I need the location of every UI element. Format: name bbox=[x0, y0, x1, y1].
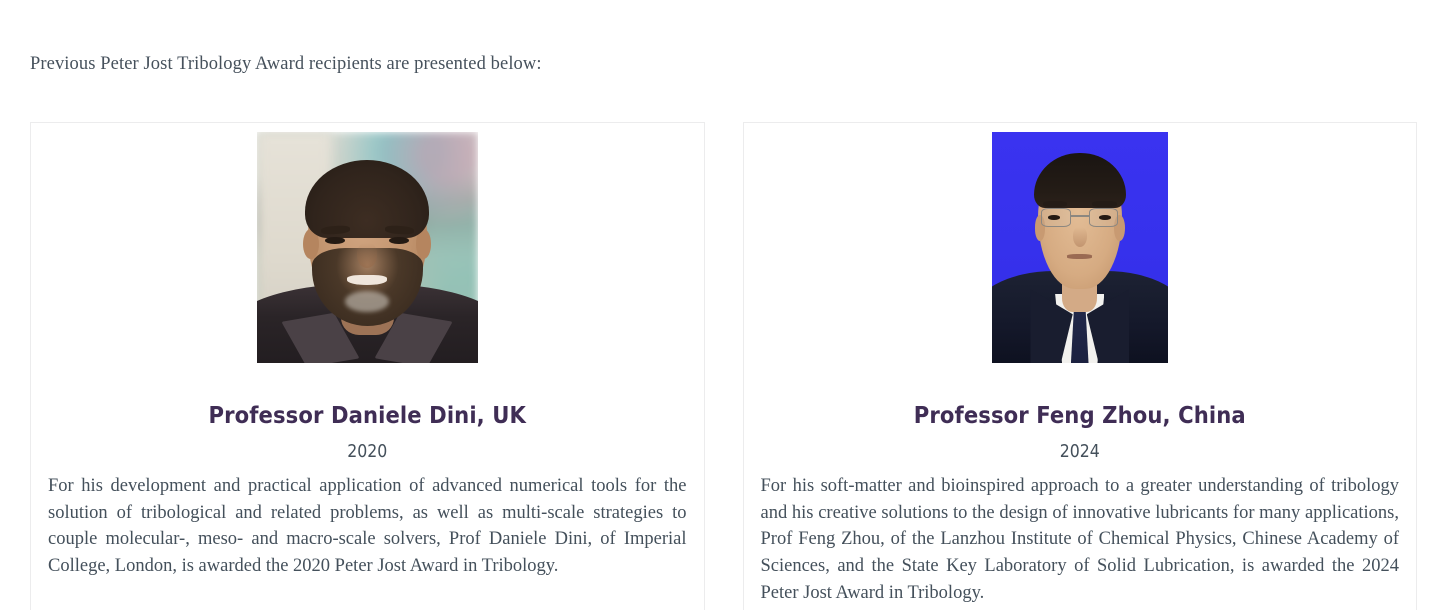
recipient-card-grid: Professor Daniele Dini, UK 2020 For his … bbox=[30, 122, 1417, 610]
recipient-card: Professor Feng Zhou, China 2024 For his … bbox=[743, 122, 1418, 610]
portrait-eye-left bbox=[1048, 215, 1060, 220]
recipient-year: 2024 bbox=[1060, 442, 1100, 463]
portrait-eyebrow-right bbox=[1092, 201, 1117, 207]
recipient-name: Professor Daniele Dini, UK bbox=[209, 401, 527, 429]
recipient-name: Professor Feng Zhou, China bbox=[914, 401, 1246, 429]
recipient-citation: For his development and practical applic… bbox=[48, 473, 687, 579]
recipient-year: 2020 bbox=[347, 442, 387, 463]
recipient-citation: For his soft-matter and bioinspired appr… bbox=[761, 473, 1400, 606]
portrait-eyebrow-left bbox=[1043, 201, 1068, 207]
portrait-mouth bbox=[1067, 254, 1092, 258]
intro-paragraph: Previous Peter Jost Tribology Award reci… bbox=[30, 50, 542, 78]
recipient-photo-feng-zhou bbox=[992, 132, 1168, 363]
portrait-mouth bbox=[347, 275, 387, 285]
recipient-card: Professor Daniele Dini, UK 2020 For his … bbox=[30, 122, 705, 610]
recipient-photo-daniele-dini bbox=[257, 132, 478, 363]
portrait-glasses-bridge bbox=[1071, 215, 1089, 216]
award-recipients-page: Previous Peter Jost Tribology Award reci… bbox=[0, 0, 1437, 610]
portrait-eye-right bbox=[1099, 215, 1111, 220]
portrait-nose bbox=[1073, 227, 1087, 248]
